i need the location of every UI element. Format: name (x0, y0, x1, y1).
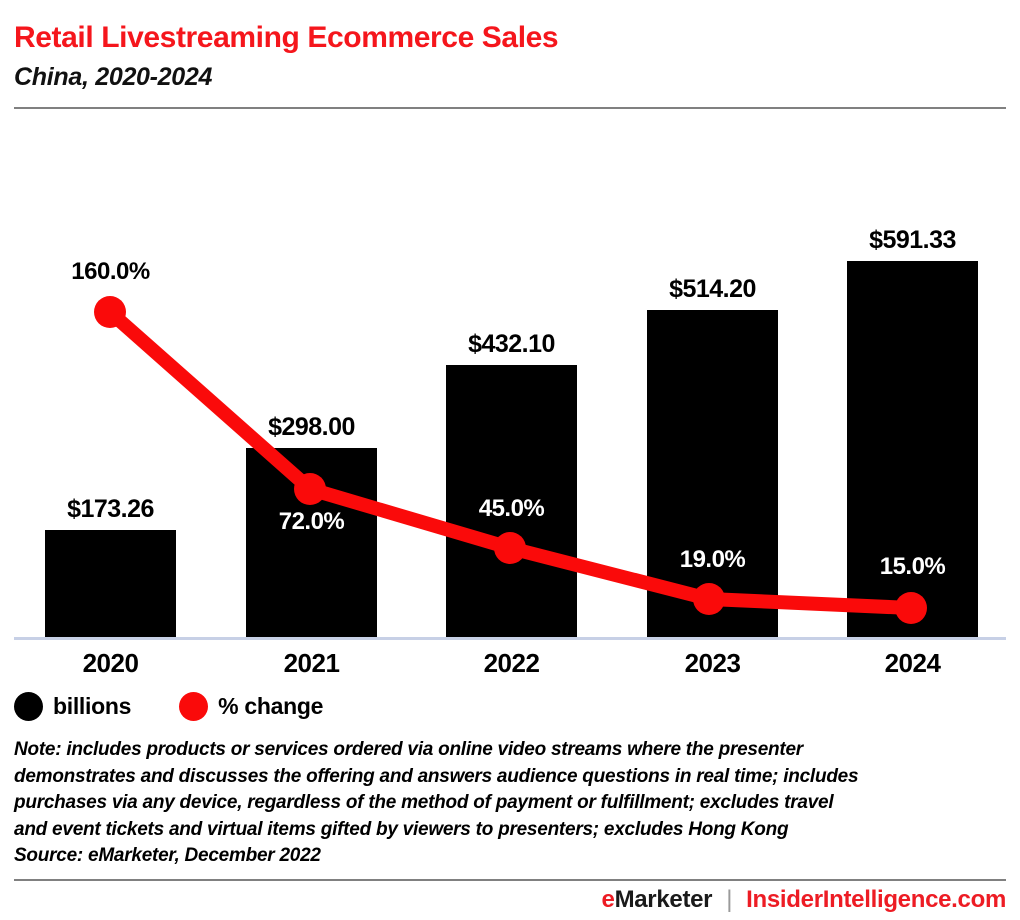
x-tick-2023: 2023 (647, 648, 778, 679)
x-tick-2021: 2021 (246, 648, 377, 679)
line-marker-2024 (895, 592, 927, 624)
legend-circle-icon-billions (14, 692, 43, 721)
pct-label-2021: 72.0% (246, 508, 377, 536)
legend-item-billions: billions (14, 692, 131, 721)
footer-branding: eMarketer | InsiderIntelligence.com (602, 886, 1007, 914)
plot-area: $173.26 $298.00 $432.10 $514.20 $591.33 … (0, 0, 1020, 660)
pct-label-2020: 160.0% (45, 258, 176, 286)
chart-legend: billions % change (14, 692, 323, 721)
line-marker-2021 (294, 473, 326, 505)
pct-label-2023: 19.0% (647, 546, 778, 574)
line-marker-2022 (494, 532, 526, 564)
pct-label-2022: 45.0% (446, 495, 577, 523)
legend-circle-icon-percent-change (179, 692, 208, 721)
x-axis-baseline (14, 637, 1006, 640)
note-line-3: purchases via any device, regardless of … (14, 790, 1004, 817)
chart-notes: Note: includes products or services orde… (14, 737, 1004, 870)
line-marker-2020 (94, 296, 126, 328)
legend-item-percent-change: % change (179, 692, 323, 721)
line-marker-2023 (693, 583, 725, 615)
brand-emarketer: eMarketer (602, 886, 713, 914)
source-line: Source: eMarketer, December 2022 (14, 843, 1004, 870)
note-line-2: demonstrates and discusses the offering … (14, 764, 1004, 791)
footer-separator: | (726, 886, 732, 914)
footer-website-link[interactable]: InsiderIntelligence.com (746, 886, 1006, 914)
footer-divider (14, 879, 1006, 881)
chart-page: Retail Livestreaming Ecommerce Sales Chi… (0, 0, 1020, 920)
x-tick-2022: 2022 (446, 648, 577, 679)
note-line-1: Note: includes products or services orde… (14, 737, 1004, 764)
legend-label-billions: billions (53, 693, 131, 720)
brand-e-letter: e (602, 886, 615, 913)
brand-marketer-text: Marketer (615, 886, 713, 913)
x-tick-2024: 2024 (847, 648, 978, 679)
x-tick-2020: 2020 (45, 648, 176, 679)
x-axis-labels: 2020 2021 2022 2023 2024 (0, 648, 1020, 688)
legend-label-percent-change: % change (218, 693, 323, 720)
note-line-4: and event tickets and virtual items gift… (14, 817, 1004, 844)
pct-label-2024: 15.0% (847, 553, 978, 581)
